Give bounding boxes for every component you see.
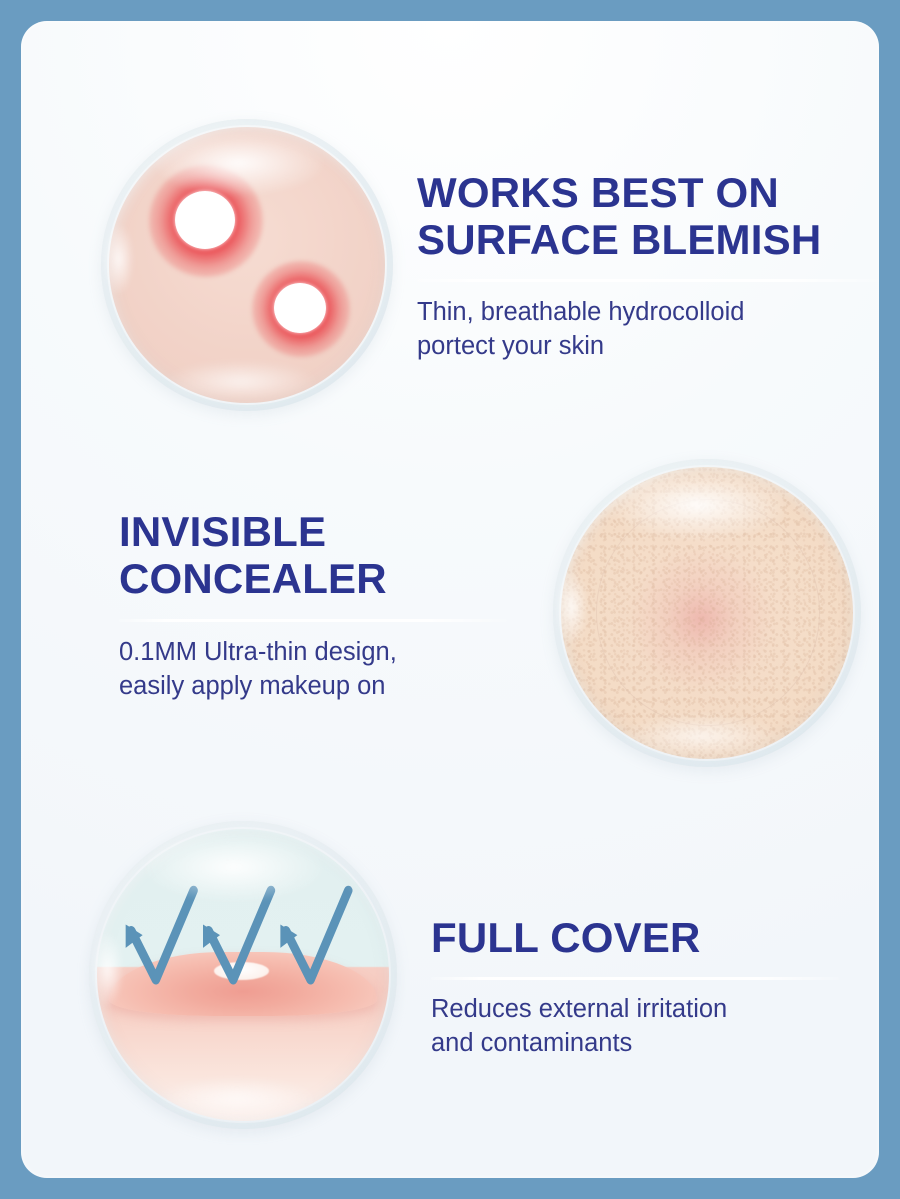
feature-heading-invisible-concealer: INVISIBLE CONCEALER xyxy=(119,508,539,602)
feature-block-full-cover: FULL COVER Reduces external irritation a… xyxy=(431,914,851,1061)
concealer-illustration-circle xyxy=(553,459,861,767)
deflection-arrows-group xyxy=(120,882,365,999)
body-line-1: 0.1MM Ultra-thin design, xyxy=(119,638,397,666)
poster-inner-panel: WORKS BEST ON SURFACE BLEMISH Thin, brea… xyxy=(21,21,879,1178)
body-line-1: Reduces external irritation xyxy=(431,995,727,1023)
skin-disc xyxy=(561,467,853,759)
body-line-2: easily apply makeup on xyxy=(119,672,386,700)
fullcover-illustration-circle xyxy=(89,821,397,1129)
heading-divider xyxy=(119,619,507,622)
patch-edge-outline xyxy=(596,499,820,726)
feature-body-full-cover: Reduces external irritation and contamin… xyxy=(431,993,851,1061)
feature-heading-full-cover: FULL COVER xyxy=(431,914,851,961)
product-feature-poster: WORKS BEST ON SURFACE BLEMISH Thin, brea… xyxy=(0,0,900,1199)
heading-line-2: CONCEALER xyxy=(119,555,387,602)
heading-line-1: INVISIBLE xyxy=(119,508,326,555)
body-line-2: portect your skin xyxy=(417,332,604,360)
heading-divider xyxy=(431,977,839,980)
body-line-2: and contaminants xyxy=(431,1029,632,1057)
body-line-1: Thin, breathable hydrocolloid xyxy=(417,298,744,326)
feature-block-surface-blemish: WORKS BEST ON SURFACE BLEMISH Thin, brea… xyxy=(417,169,879,364)
heading-line-1: WORKS BEST ON xyxy=(417,169,779,216)
feature-heading-surface-blemish: WORKS BEST ON SURFACE BLEMISH xyxy=(417,169,879,263)
heading-divider xyxy=(417,279,879,282)
skin-cross-section-disc xyxy=(97,829,389,1121)
heading-line-1: FULL COVER xyxy=(431,914,701,961)
skin-texture-grain xyxy=(561,467,853,759)
feature-body-invisible-concealer: 0.1MM Ultra-thin design, easily apply ma… xyxy=(119,636,539,704)
skin-disc xyxy=(109,127,385,403)
hydrocolloid-dot-small xyxy=(274,283,326,333)
heading-line-2: SURFACE BLEMISH xyxy=(417,216,821,263)
blemish-illustration-circle xyxy=(101,119,393,411)
hydrocolloid-dot-large xyxy=(175,191,235,249)
feature-body-surface-blemish: Thin, breathable hydrocolloid portect yo… xyxy=(417,296,879,364)
feature-block-invisible-concealer: INVISIBLE CONCEALER 0.1MM Ultra-thin des… xyxy=(119,508,539,704)
